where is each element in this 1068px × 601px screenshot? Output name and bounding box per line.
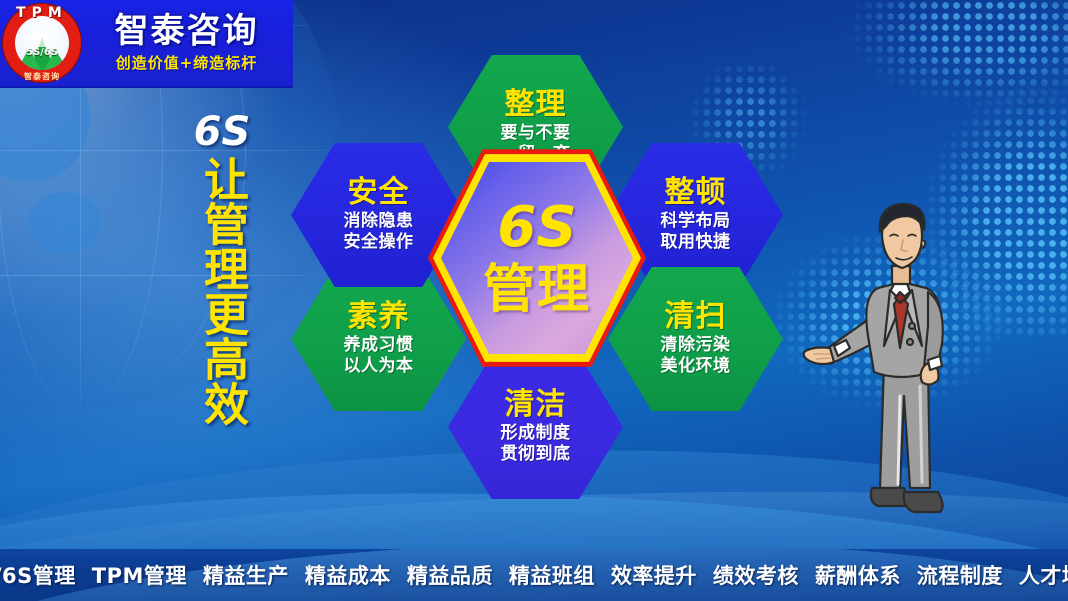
keyword-item[interactable]: 精益班组 — [501, 560, 603, 590]
logo-company-text: 智泰咨询 — [2, 71, 82, 82]
hex-sub-line2: 以人为本 — [344, 356, 414, 376]
keyword-item[interactable]: 5S/6S管理 — [0, 560, 84, 590]
hex-sub-line2: 安全操作 — [344, 232, 414, 252]
brand-name: 智泰咨询 — [86, 13, 287, 49]
header-banner: TPM 5S/6S 智泰咨询 智泰咨询 创造价值+缔造标杆 — [0, 0, 293, 88]
hex-title: 整顿 — [665, 177, 727, 209]
hex-subtitle: 清除污染 美化环境 — [661, 335, 731, 376]
hex-sub-line2: 取用快捷 — [661, 232, 731, 252]
brand-block: 智泰咨询 创造价值+缔造标杆 — [82, 11, 293, 74]
logo-tpm-text: TPM — [2, 5, 82, 21]
hex-subtitle: 养成习惯 以人为本 — [344, 335, 414, 376]
center-title-line1: 6S — [497, 200, 576, 256]
keyword-item[interactable]: 流程制度 — [909, 560, 1011, 590]
keyword-item[interactable]: 精益生产 — [195, 560, 297, 590]
hex-title: 整理 — [505, 89, 567, 121]
hex-sub-line2: 美化环境 — [661, 356, 731, 376]
company-logo: TPM 5S/6S 智泰咨询 — [2, 3, 82, 83]
keyword-list: 5S/6S管理TPM管理精益生产精益成本精益品质精益班组效率提升绩效考核薪酬体系… — [0, 560, 1068, 590]
headline-prefix: 6S — [170, 112, 274, 152]
headline-block: 6S 让管理更高效 — [170, 112, 274, 430]
keyword-item[interactable]: 效率提升 — [603, 560, 705, 590]
hex-sub-line1: 清除污染 — [661, 335, 731, 355]
keyword-item[interactable]: 精益品质 — [399, 560, 501, 590]
keyword-item[interactable]: 绩效考核 — [705, 560, 807, 590]
dot-map-pattern — [808, 0, 1068, 120]
hex-sub-line1: 消除隐患 — [344, 211, 414, 231]
hex-title: 清扫 — [665, 301, 727, 333]
hex-sub-line1: 科学布局 — [661, 211, 731, 231]
hex-title: 安全 — [348, 177, 410, 209]
hex-title: 清洁 — [505, 389, 567, 421]
keyword-bar: 5S/6S管理TPM管理精益生产精益成本精益品质精益班组效率提升绩效考核薪酬体系… — [0, 549, 1068, 601]
keyword-item[interactable]: TPM管理 — [84, 560, 195, 590]
hex-title: 素养 — [348, 301, 410, 333]
hex-item-qingjie[interactable]: 清洁 形成制度 贯彻到底 — [448, 352, 623, 502]
hex-item-center-6s[interactable]: 6S 管理 — [428, 147, 646, 369]
hex-sub-line1: 养成习惯 — [344, 335, 414, 355]
center-title-line2: 管理 — [483, 264, 591, 316]
keyword-item[interactable]: 精益成本 — [297, 560, 399, 590]
businessman-illustration — [800, 196, 1000, 526]
hex-sub-line1: 形成制度 — [501, 423, 571, 443]
hexagon-diagram: 整理 要与不要 一留一弃 整顿 科学布局 取用快捷 清扫 清除污染 美化环境 清… — [288, 42, 798, 502]
headline-vertical-text: 让管理更高效 — [199, 156, 245, 426]
hex-sub-line2: 贯彻到底 — [501, 444, 571, 464]
poster-canvas: TPM 5S/6S 智泰咨询 智泰咨询 创造价值+缔造标杆 6S 让管理更高效 … — [0, 0, 1068, 601]
hex-subtitle: 科学布局 取用快捷 — [661, 211, 731, 252]
hex-subtitle: 形成制度 贯彻到底 — [501, 423, 571, 464]
hex-subtitle: 消除隐患 安全操作 — [344, 211, 414, 252]
brand-slogan: 创造价值+缔造标杆 — [86, 52, 287, 73]
logo-inner-circle: 5S/6S — [15, 16, 69, 70]
keyword-item[interactable]: 人才培养 — [1011, 560, 1068, 590]
keyword-item[interactable]: 薪酬体系 — [807, 560, 909, 590]
hex-sub-line1: 要与不要 — [501, 123, 571, 143]
logo-5s6s-text: 5S/6S — [15, 47, 69, 58]
